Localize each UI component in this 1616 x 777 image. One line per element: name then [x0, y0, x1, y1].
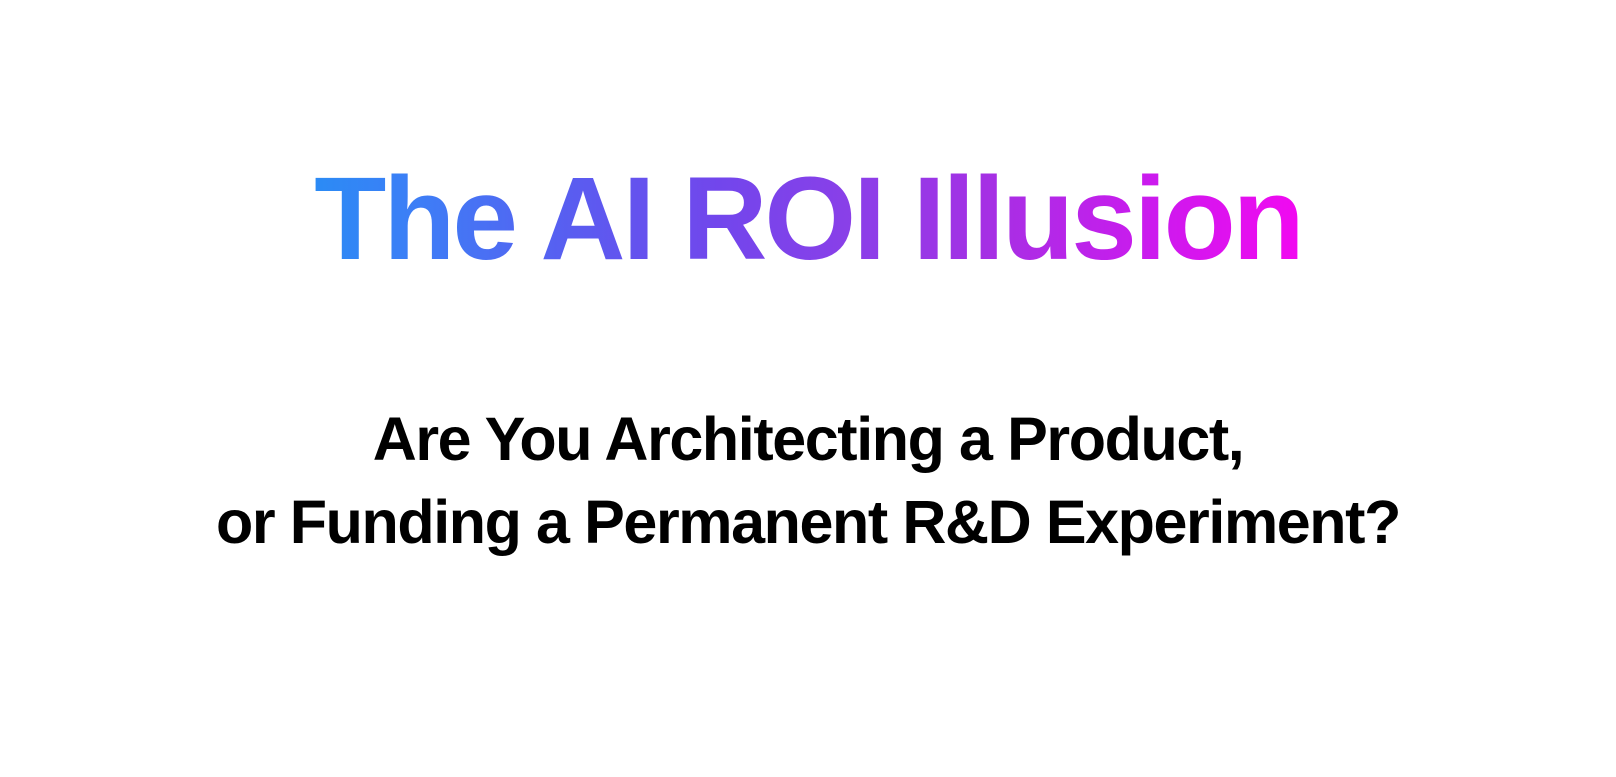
subtitle-line-1: Are You Architecting a Product, — [0, 398, 1616, 481]
subtitle-line-2: or Funding a Permanent R&D Experiment? — [0, 481, 1616, 564]
page-title: The AI ROI Illusion — [314, 160, 1302, 278]
title-slide: The AI ROI Illusion Are You Architecting… — [0, 0, 1616, 777]
subtitle-container: Are You Architecting a Product, or Fundi… — [0, 398, 1616, 564]
headline-container: The AI ROI Illusion — [0, 160, 1616, 278]
